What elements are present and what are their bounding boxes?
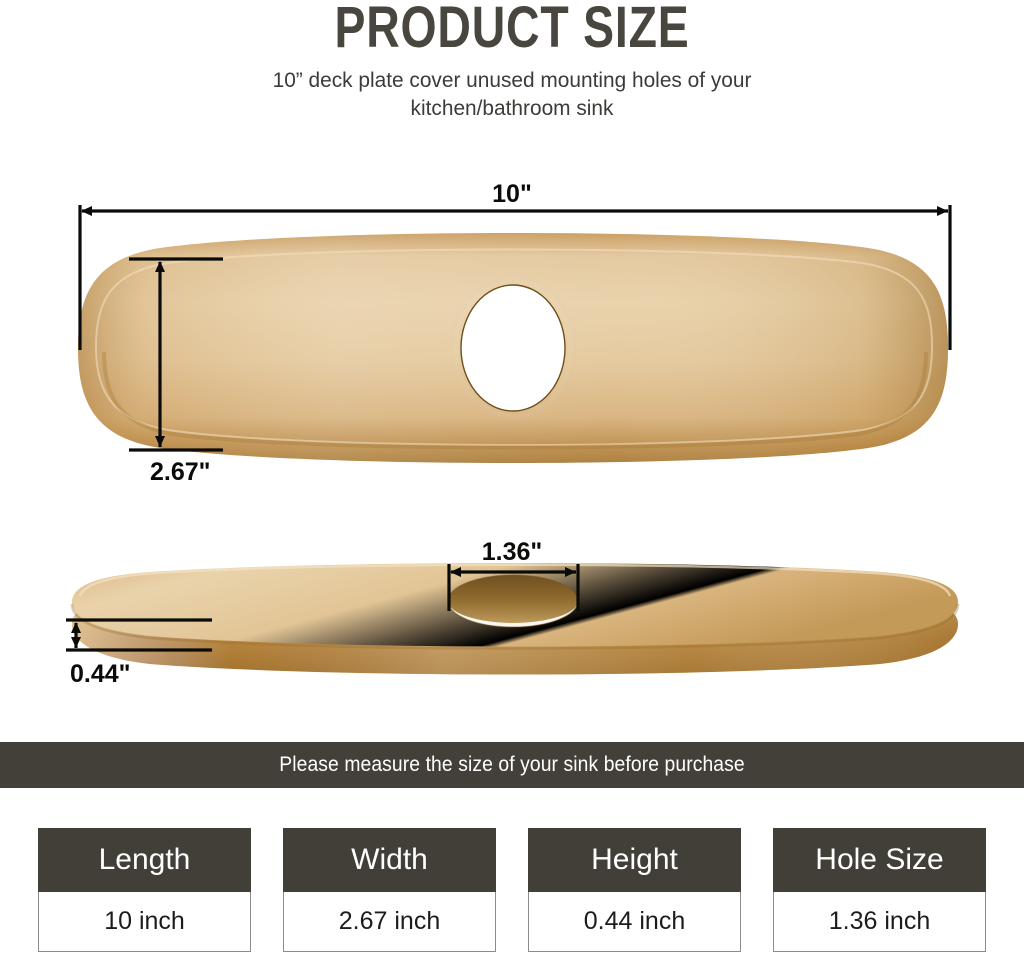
spec-card-length: Length 10 inch — [38, 828, 251, 956]
spec-card-height: Height 0.44 inch — [528, 828, 741, 956]
spec-card-width: Width 2.67 inch — [283, 828, 496, 956]
measure-notice-text: Please measure the size of your sink bef… — [279, 753, 745, 777]
width-dimension-label: 2.67" — [150, 458, 211, 487]
product-size-infographic: PRODUCT SIZE 10” deck plate cover unused… — [0, 0, 1024, 962]
hole-dimension-label: 1.36" — [0, 538, 1024, 567]
spec-card-value: 10 inch — [38, 892, 251, 952]
diagram-svg — [0, 0, 1024, 742]
length-dimension-label: 10" — [0, 180, 1024, 209]
spec-card-value: 1.36 inch — [773, 892, 986, 952]
thickness-dimension-label: 0.44" — [70, 660, 131, 689]
spec-card-label: Height — [528, 828, 741, 892]
spec-card-label: Length — [38, 828, 251, 892]
product-illustration: 10" 2.67" 1.36" 0.44" — [0, 0, 1024, 742]
spec-card-value: 0.44 inch — [528, 892, 741, 952]
spec-cards: Length 10 inch Width 2.67 inch Height 0.… — [0, 828, 1024, 956]
top-view-plate — [78, 233, 948, 463]
spec-card-label: Hole Size — [773, 828, 986, 892]
spec-card-hole-size: Hole Size 1.36 inch — [773, 828, 986, 956]
spec-card-value: 2.67 inch — [283, 892, 496, 952]
measure-notice-banner: Please measure the size of your sink bef… — [0, 742, 1024, 788]
spec-card-label: Width — [283, 828, 496, 892]
mounting-hole — [461, 285, 565, 411]
